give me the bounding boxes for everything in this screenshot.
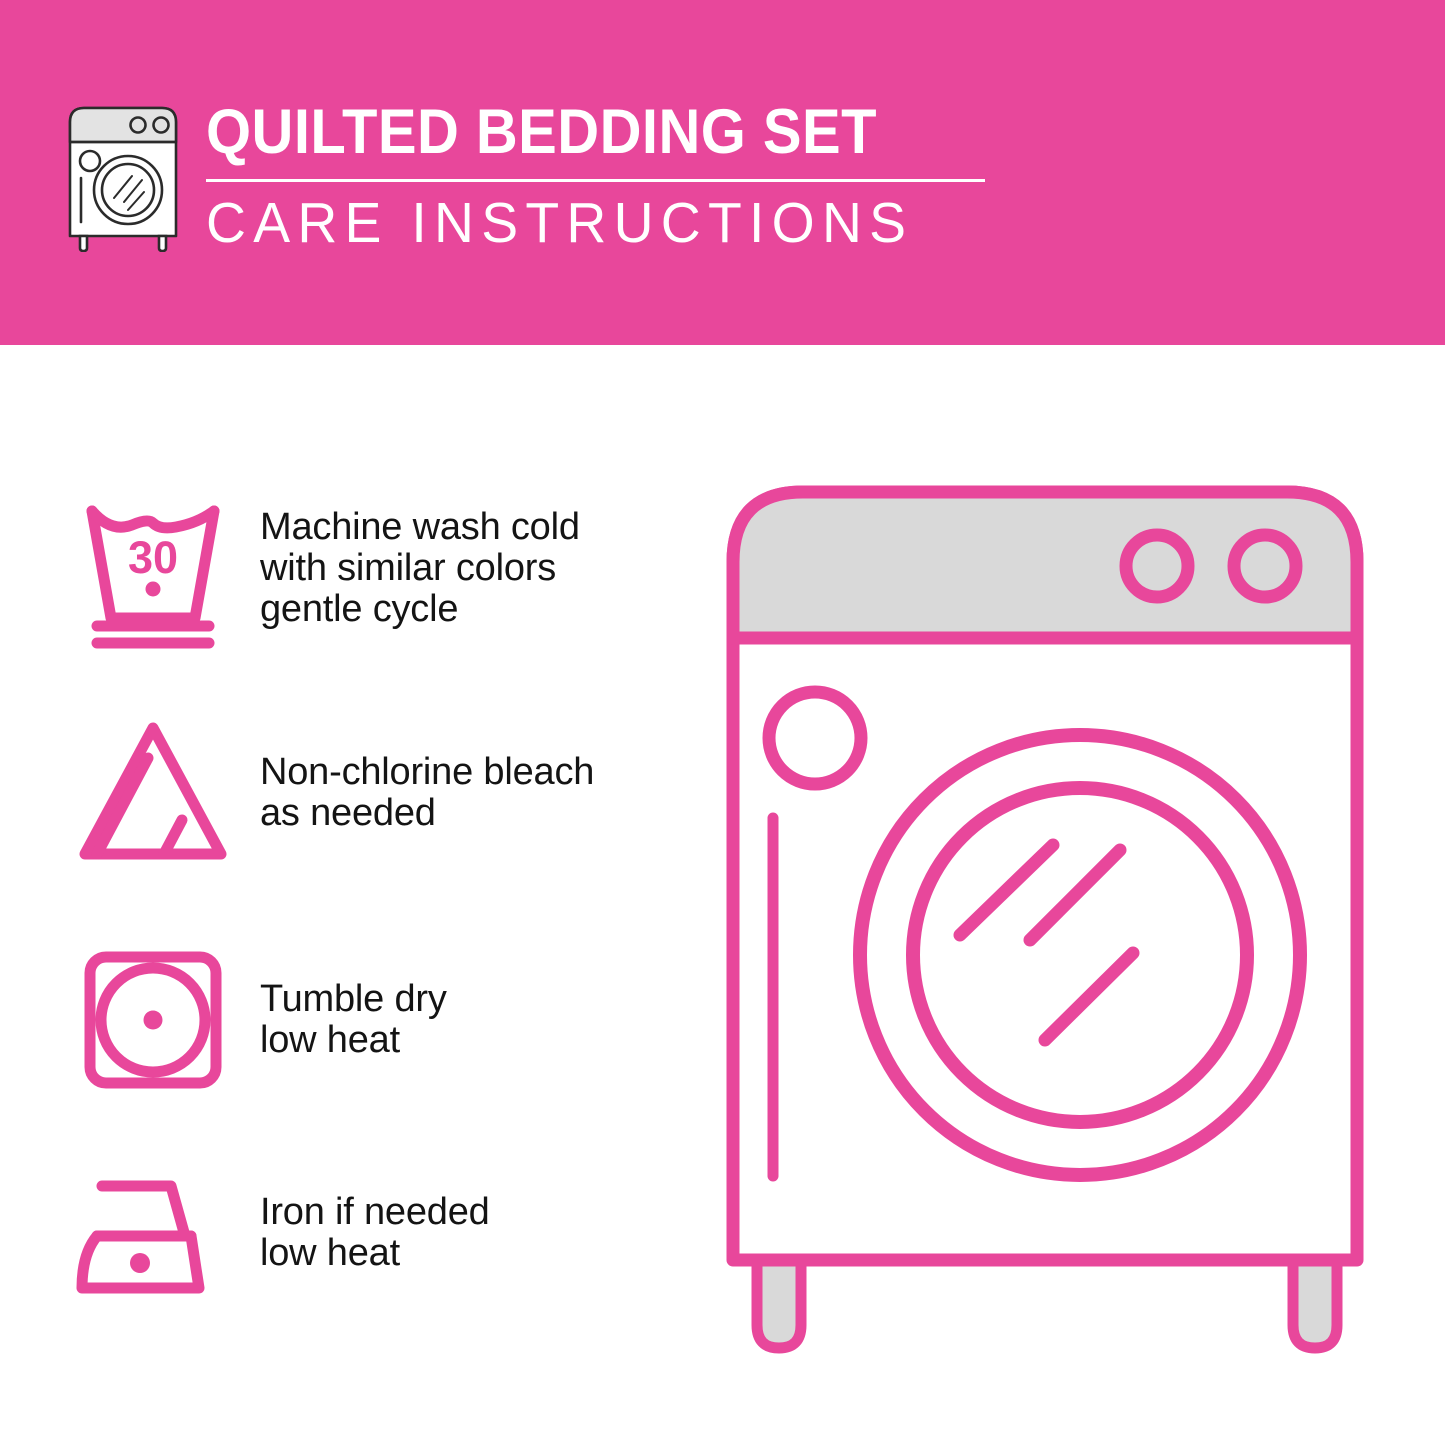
header-text-block: QUILTED BEDDING SET CARE INSTRUCTIONS [206, 96, 992, 254]
page-title: QUILTED BEDDING SET [206, 98, 929, 166]
header-divider [206, 179, 985, 182]
wash-tub-30-icon: 30 [70, 485, 236, 651]
care-label-machine-wash: Machine wash cold with similar colors ge… [260, 507, 580, 630]
care-instruction-list: 30 Machine wash cold with similar colors… [0, 345, 700, 1445]
care-label-iron: Iron if needed low heat [260, 1192, 490, 1274]
iron-low-heat-icon [70, 1150, 236, 1316]
washing-machine-icon [62, 102, 184, 252]
care-row-tumble-dry: Tumble dry low heat [70, 937, 690, 1103]
page-subtitle: CARE INSTRUCTIONS [206, 192, 968, 254]
tumble-dry-low-icon [70, 937, 236, 1103]
control-panel [733, 492, 1357, 638]
care-row-bleach: Non-chlorine bleach as needed [70, 710, 690, 876]
header-banner: QUILTED BEDDING SET CARE INSTRUCTIONS [0, 0, 1445, 345]
care-label-bleach: Non-chlorine bleach as needed [260, 752, 594, 834]
care-row-iron: Iron if needed low heat [70, 1150, 690, 1316]
iron-heat-dot [130, 1253, 150, 1273]
care-label-tumble-dry: Tumble dry low heat [260, 979, 447, 1061]
large-washing-machine-illustration [715, 470, 1415, 1370]
wash-dot [146, 582, 161, 597]
non-chlorine-bleach-triangle-icon [70, 710, 236, 876]
care-row-machine-wash: 30 Machine wash cold with similar colors… [70, 485, 690, 651]
wash-temperature-value: 30 [128, 532, 178, 583]
tumble-dry-heat-dot [144, 1011, 163, 1030]
header-content: QUILTED BEDDING SET CARE INSTRUCTIONS [62, 96, 992, 258]
